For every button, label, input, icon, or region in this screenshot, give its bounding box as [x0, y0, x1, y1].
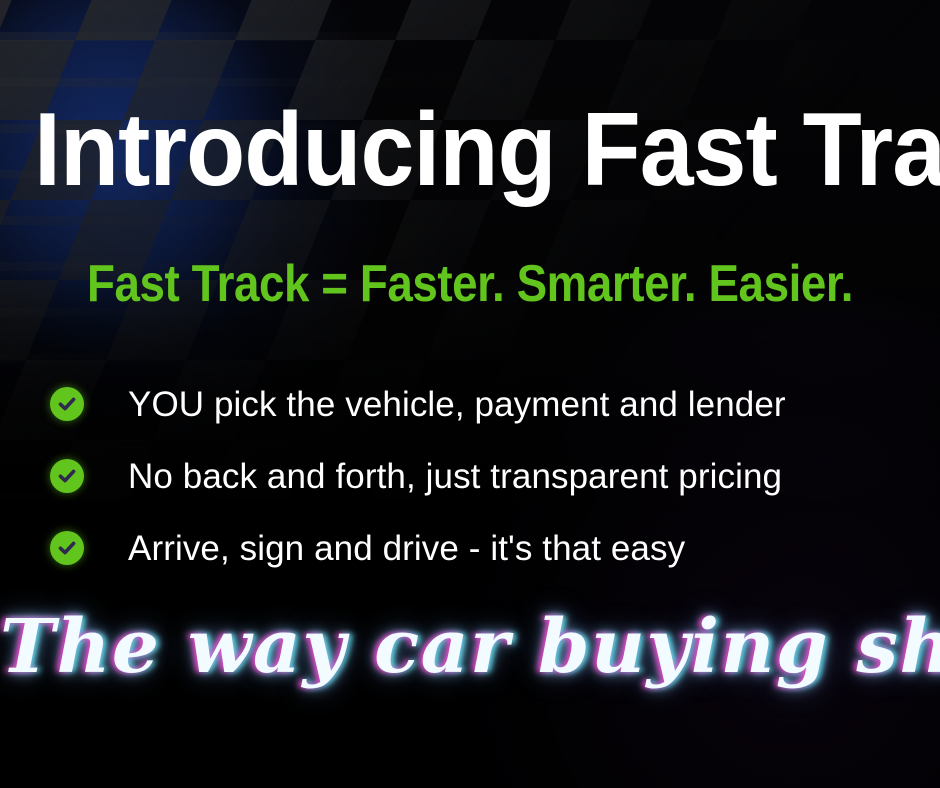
poster-headline: Introducing Fast Track: [34, 98, 845, 202]
list-item: No back and forth, just transparent pric…: [50, 450, 910, 502]
check-circle-icon: [50, 387, 84, 421]
check-circle-icon: [50, 531, 84, 565]
list-item: Arrive, sign and drive - it's that easy: [50, 522, 910, 574]
poster-subheadline: Fast Track = Faster. Smarter. Easier.: [56, 258, 883, 310]
poster-content: Introducing Fast Track Fast Track = Fast…: [0, 0, 940, 788]
benefits-list: YOU pick the vehicle, payment and lender…: [50, 378, 910, 594]
list-item-label: Arrive, sign and drive - it's that easy: [128, 531, 685, 566]
promo-poster: Introducing Fast Track Fast Track = Fast…: [0, 0, 940, 788]
list-item: YOU pick the vehicle, payment and lender: [50, 378, 910, 430]
list-item-label: No back and forth, just transparent pric…: [128, 459, 782, 494]
list-item-label: YOU pick the vehicle, payment and lender: [128, 387, 786, 422]
check-circle-icon: [50, 459, 84, 493]
poster-tagline: The way car buying should be.: [0, 610, 940, 684]
